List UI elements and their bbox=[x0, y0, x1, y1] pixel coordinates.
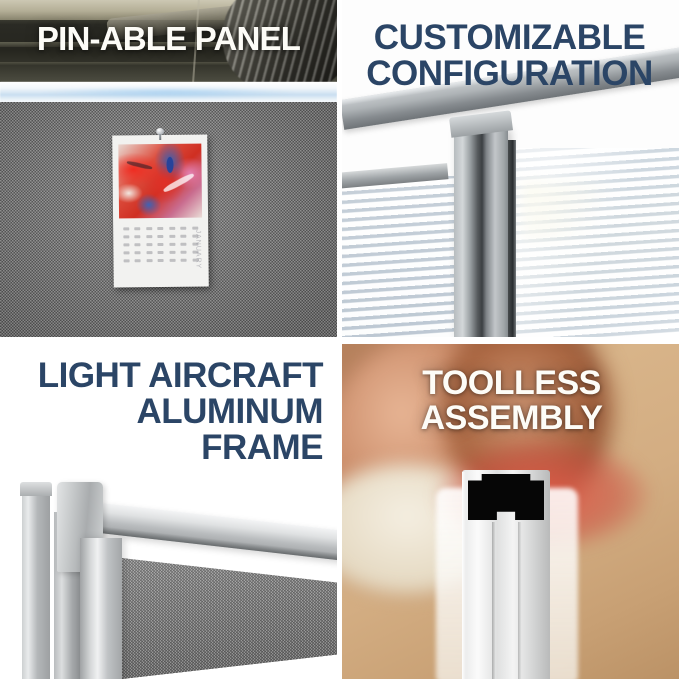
rear-post bbox=[22, 492, 50, 679]
artwork-stroke bbox=[167, 157, 174, 173]
aluminum-extrusion-profile bbox=[462, 470, 550, 679]
push-pin-icon bbox=[155, 128, 165, 140]
aluminum-corner-post bbox=[454, 130, 508, 337]
calendar-date-grid bbox=[121, 227, 201, 280]
calendar-month-label: JANUARY bbox=[194, 230, 201, 270]
panel-light-aircraft-aluminum-frame: LIGHT AIRCRAFT ALUMINUM FRAME bbox=[0, 344, 337, 679]
artwork-stroke bbox=[127, 160, 153, 170]
calendar-artwork bbox=[118, 144, 202, 219]
ceiling-photo bbox=[0, 0, 337, 82]
panel-customizable-configuration: CUSTOMIZABLE CONFIGURATION bbox=[342, 0, 679, 337]
panel-pin-able: JANUARY PIN-ABLE PANEL bbox=[0, 0, 337, 337]
artwork-stroke bbox=[162, 172, 195, 194]
rear-post-cap bbox=[20, 482, 52, 496]
glass-panel-left bbox=[342, 176, 456, 337]
glass-panel-with-blinds bbox=[508, 148, 679, 337]
extrusion-edge-highlight bbox=[462, 472, 466, 679]
extrusion-channel bbox=[468, 474, 544, 520]
feature-infographic: JANUARY PIN-ABLE PANEL CUSTOMIZABLE CONF… bbox=[0, 0, 679, 679]
ceiling-light-strip bbox=[0, 82, 337, 104]
glass-mullion bbox=[508, 140, 516, 337]
extrusion-rib bbox=[518, 522, 522, 679]
ceiling-duct-icon bbox=[223, 0, 337, 82]
front-frame-post bbox=[80, 538, 122, 679]
panel-toolless-assembly: TOOLLESS ASSEMBLY bbox=[342, 344, 679, 679]
wall-calendar: JANUARY bbox=[112, 135, 209, 288]
extrusion-rib bbox=[492, 522, 496, 679]
